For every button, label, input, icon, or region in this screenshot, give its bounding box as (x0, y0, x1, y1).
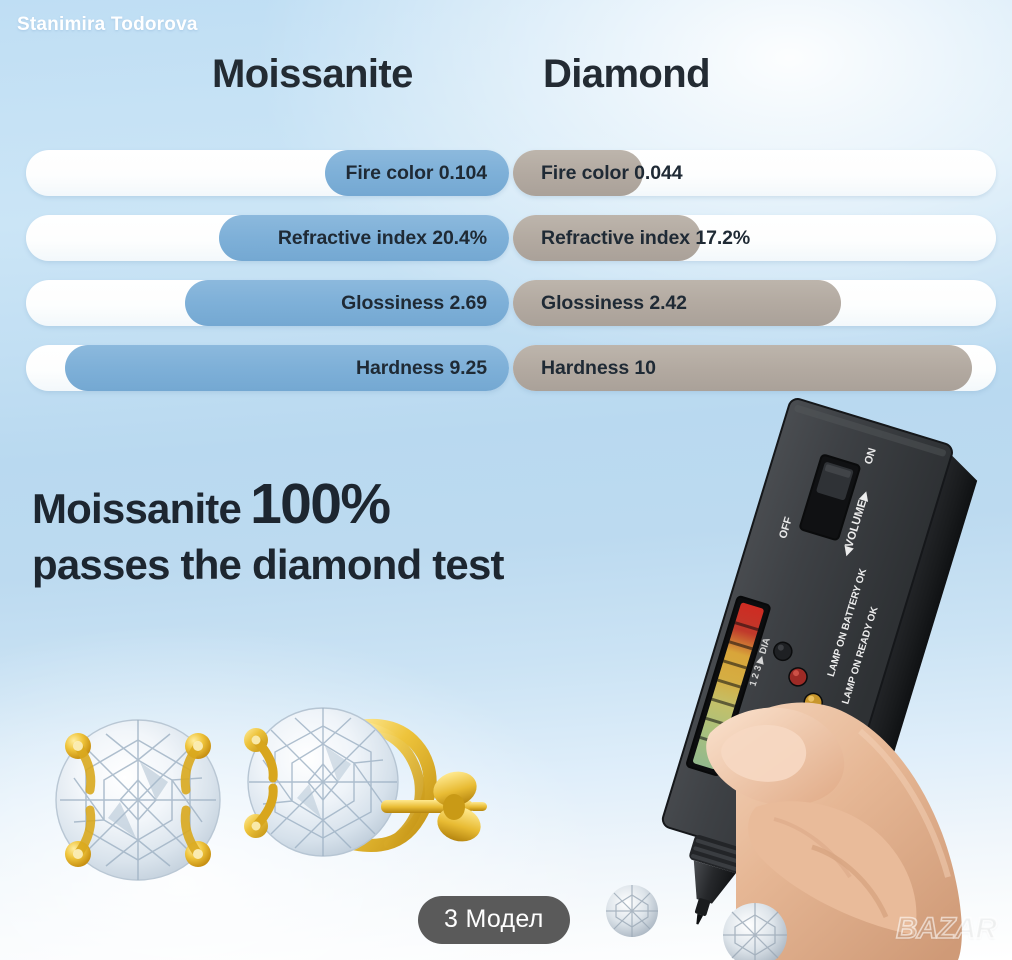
comparison-row: Fire color 0.104 Fire color 0.044 (0, 150, 1012, 196)
slogan-line-two: passes the diamond test (32, 541, 504, 588)
slogan-percent: 100% (250, 472, 389, 536)
moissanite-bar-label: Glossiness 2.69 (341, 280, 487, 326)
diamond-bar-track: Refractive index 17.2% (513, 215, 996, 261)
heading-diamond: Diamond (543, 52, 710, 97)
diamond-bar-label: Refractive index 17.2% (541, 215, 750, 261)
heading-moissanite: Moissanite (212, 52, 413, 97)
marketing-slogan: Moissanite100% passes the diamond test (32, 476, 672, 586)
moissanite-bar-track: Fire color 0.104 (26, 150, 509, 196)
moissanite-stud-side-icon (223, 678, 493, 898)
product-image-canvas: Stanimira Todorova Moissanite Diamond Fi… (0, 0, 1012, 960)
model-badge: 3 Модел (418, 896, 570, 944)
moissanite-bar-label: Refractive index 20.4% (278, 215, 487, 261)
moissanite-bar-track: Hardness 9.25 (26, 345, 509, 391)
diamond-bar-label: Hardness 10 (541, 345, 656, 391)
comparison-row: Hardness 9.25 Hardness 10 (0, 345, 1012, 391)
moissanite-bar-label: Fire color 0.104 (346, 150, 487, 196)
moissanite-bar-label: Hardness 9.25 (356, 345, 487, 391)
diamond-bar-track: Glossiness 2.42 (513, 280, 996, 326)
moissanite-bar-track: Refractive index 20.4% (26, 215, 509, 261)
diamond-bar-track: Fire color 0.044 (513, 150, 996, 196)
diamond-bar-track: Hardness 10 (513, 345, 996, 391)
earring-photo-group (18, 676, 498, 906)
comparison-row: Glossiness 2.69 Glossiness 2.42 (0, 280, 1012, 326)
moissanite-bar-track: Glossiness 2.69 (26, 280, 509, 326)
diamond-bar-label: Glossiness 2.42 (541, 280, 687, 326)
moissanite-stud-front-icon (38, 698, 238, 898)
comparison-row: Refractive index 20.4% Refractive index … (0, 215, 1012, 261)
seller-watermark: Stanimira Todorova (17, 14, 198, 36)
comparison-bar-chart: Fire color 0.104 Fire color 0.044 Refrac… (0, 150, 1012, 410)
diamond-bar-label: Fire color 0.044 (541, 150, 682, 196)
bazar-watermark: BAZAR (896, 912, 996, 946)
slogan-word-moissanite: Moissanite (32, 485, 241, 532)
comparison-headings: Moissanite Diamond (0, 52, 1012, 108)
bazar-watermark-text: BAZAR (896, 912, 996, 945)
